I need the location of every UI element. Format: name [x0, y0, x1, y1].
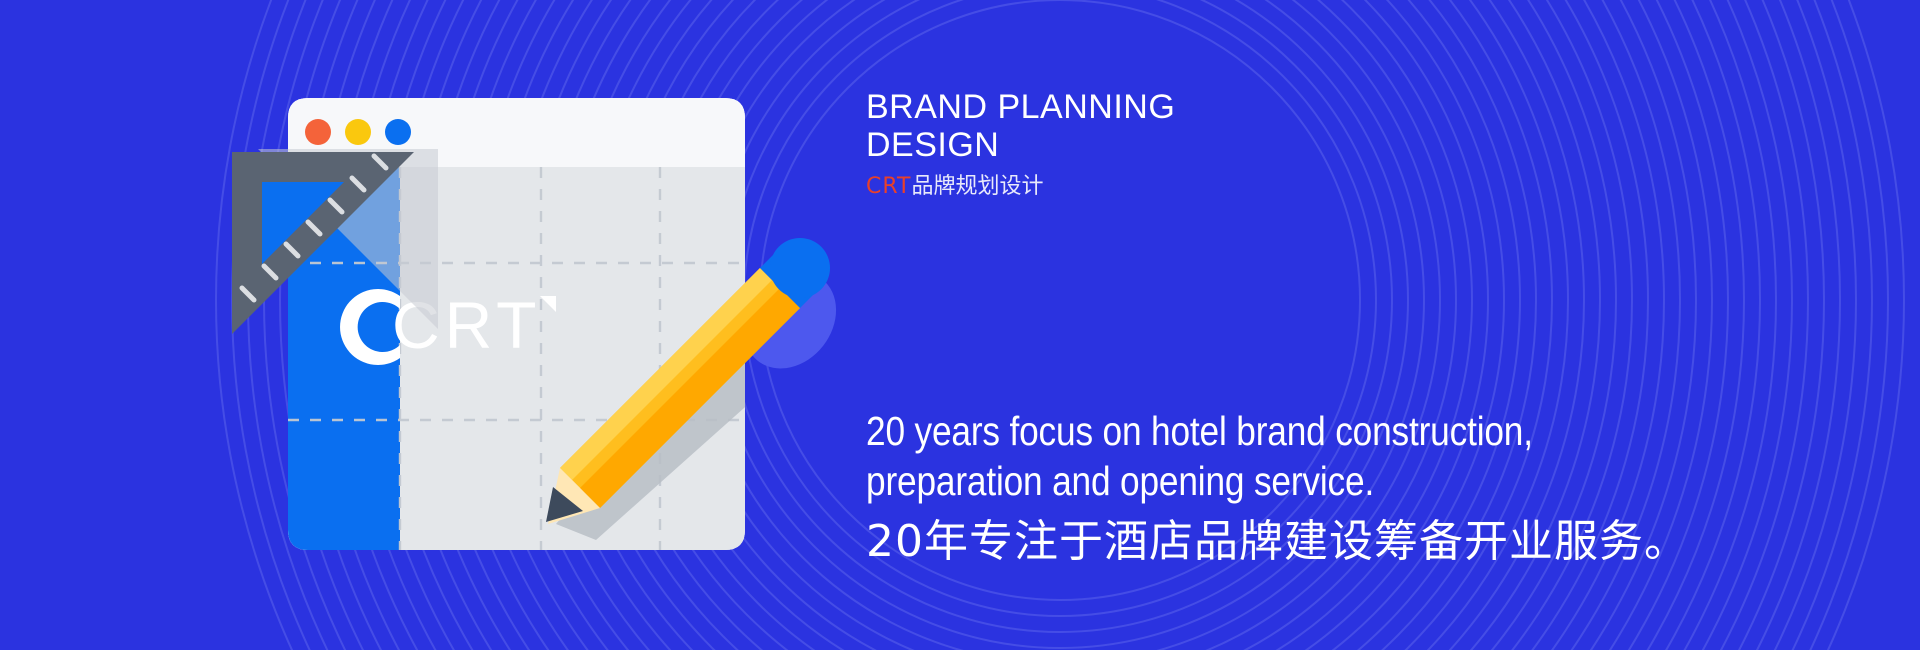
brand-banner: CRT [0, 0, 1920, 650]
close-dot [305, 119, 331, 145]
tagline-english-line-1: 20 years focus on hotel brand constructi… [866, 406, 1571, 456]
banner-copy-block: BRAND PLANNING DESIGN CRT品牌规划设计 20 years… [866, 0, 1916, 650]
tagline-chinese: 20年专注于酒店品牌建设筹备开业服务。 [866, 515, 1689, 569]
headline-line-1: BRAND PLANNING [866, 88, 1506, 126]
maximize-dot [385, 119, 411, 145]
subheadline: CRT品牌规划设计 [866, 174, 1044, 200]
subheadline-brand: CRT [866, 174, 912, 199]
tagline-english: 20 years focus on hotel brand constructi… [866, 406, 1571, 506]
headline: BRAND PLANNING DESIGN [866, 88, 1506, 164]
minimize-dot [345, 119, 371, 145]
headline-line-2: DESIGN [866, 126, 1506, 164]
subheadline-text: 品牌规划设计 [912, 174, 1044, 199]
tagline-english-line-2: preparation and opening service. [866, 456, 1571, 506]
brand-illustration: CRT [0, 0, 900, 650]
